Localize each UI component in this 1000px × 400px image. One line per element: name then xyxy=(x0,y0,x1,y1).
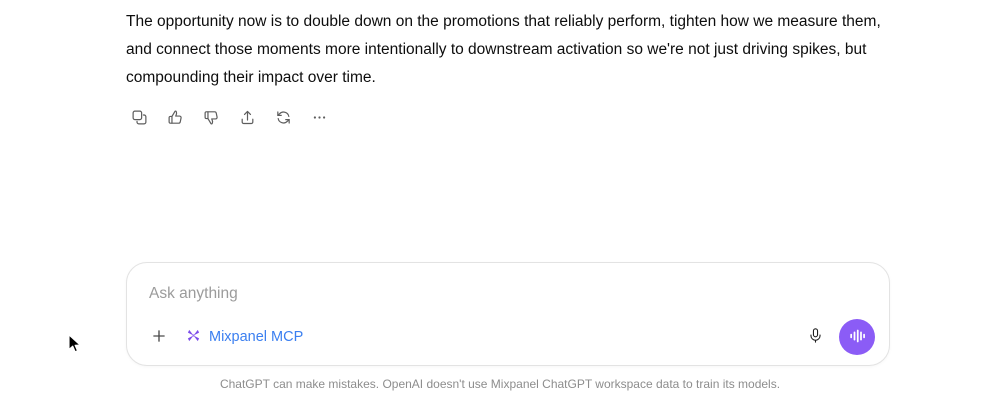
mixpanel-logo-icon xyxy=(185,327,202,347)
composer-left-tools: Mixpanel MCP xyxy=(145,323,309,351)
composer-right-tools xyxy=(801,319,875,355)
composer[interactable]: Ask anything xyxy=(126,262,890,366)
share-button[interactable] xyxy=(234,104,260,130)
prompt-input[interactable]: Ask anything xyxy=(149,283,867,305)
mouse-cursor xyxy=(68,334,82,354)
plus-icon xyxy=(150,327,168,348)
assistant-message-text: The opportunity now is to double down on… xyxy=(126,8,882,92)
composer-toolbar: Mixpanel MCP xyxy=(127,309,889,365)
thumbs-up-icon xyxy=(167,109,184,126)
thumbs-down-button[interactable] xyxy=(198,104,224,130)
microphone-icon xyxy=(807,327,824,347)
composer-input-row[interactable]: Ask anything xyxy=(149,283,867,305)
share-icon xyxy=(239,109,256,126)
regenerate-button[interactable] xyxy=(270,104,296,130)
thumbs-down-icon xyxy=(203,109,220,126)
voice-waveform-icon xyxy=(847,326,867,349)
message-action-toolbar xyxy=(126,104,332,130)
copy-button[interactable] xyxy=(126,104,152,130)
add-attachment-button[interactable] xyxy=(145,323,173,351)
assistant-message: The opportunity now is to double down on… xyxy=(126,8,882,92)
copy-icon xyxy=(131,109,148,126)
mixpanel-mcp-label: Mixpanel MCP xyxy=(209,328,303,346)
footer-disclaimer: ChatGPT can make mistakes. OpenAI doesn'… xyxy=(0,376,1000,392)
more-options-button[interactable] xyxy=(306,104,332,130)
mixpanel-mcp-chip[interactable]: Mixpanel MCP xyxy=(179,324,309,350)
thumbs-up-button[interactable] xyxy=(162,104,188,130)
regenerate-icon xyxy=(275,109,292,126)
dictate-button[interactable] xyxy=(801,323,829,351)
more-options-icon xyxy=(311,109,328,126)
voice-mode-button[interactable] xyxy=(839,319,875,355)
